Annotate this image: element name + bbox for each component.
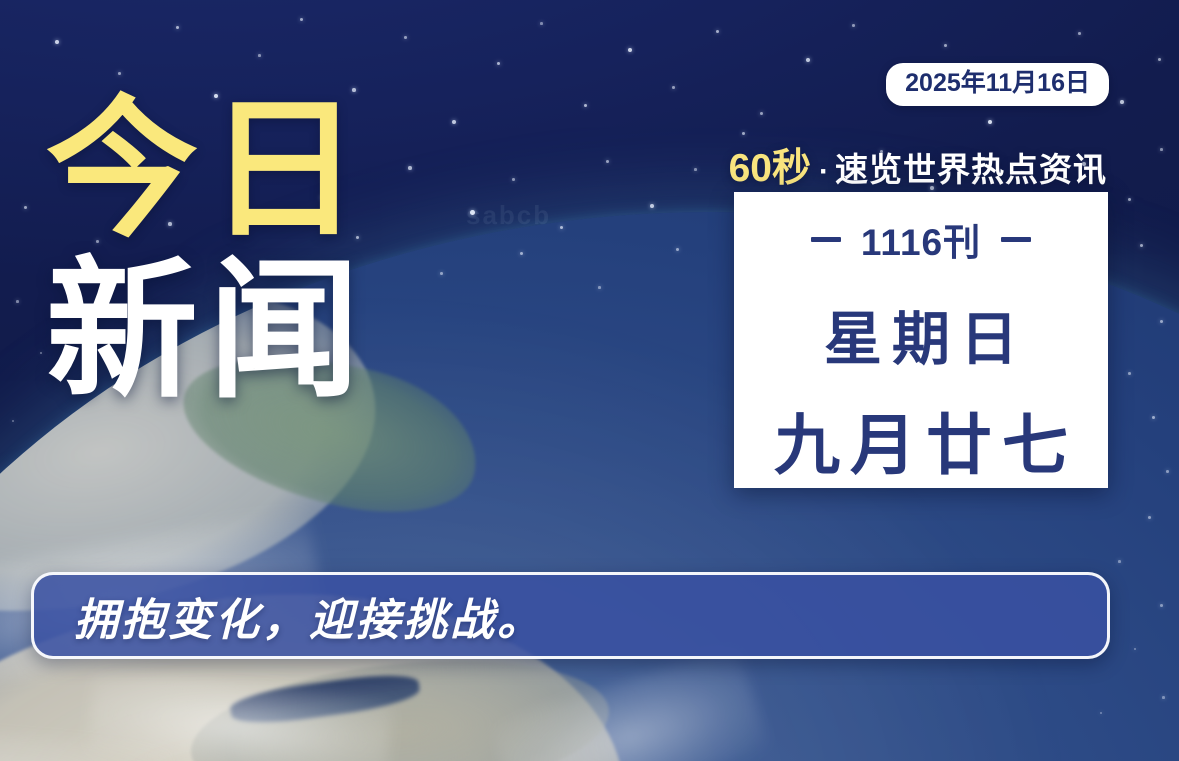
dash-icon	[811, 237, 841, 242]
tagline: 60秒 · 速览世界热点资讯	[729, 137, 1107, 193]
poster-title: 今日 新闻	[46, 96, 506, 405]
lunar-date-label: 九月廿七	[764, 392, 1078, 488]
tagline-separator: ·	[819, 155, 829, 189]
issue-row: 1116刊	[811, 212, 1031, 266]
issue-number: 1116刊	[861, 212, 981, 266]
weekday-label: 星期日	[814, 292, 1028, 376]
slogan-bar: 拥抱变化，迎接挑战。	[31, 572, 1110, 659]
date-badge: 2025年11月16日	[886, 63, 1109, 106]
news-poster: sabcb 今日 新闻 2025年11月16日 60秒 · 速览世界热点资讯 1…	[0, 0, 1179, 761]
title-line-news: 新闻	[46, 257, 506, 404]
info-card: 1116刊 星期日 九月廿七	[734, 192, 1108, 488]
slogan-text: 拥抱变化，迎接挑战。	[74, 584, 544, 648]
tagline-seconds: 60秒	[729, 137, 811, 193]
title-line-today: 今日	[46, 96, 506, 243]
tagline-text: 速览世界热点资讯	[835, 143, 1107, 191]
dash-icon	[1001, 237, 1031, 242]
